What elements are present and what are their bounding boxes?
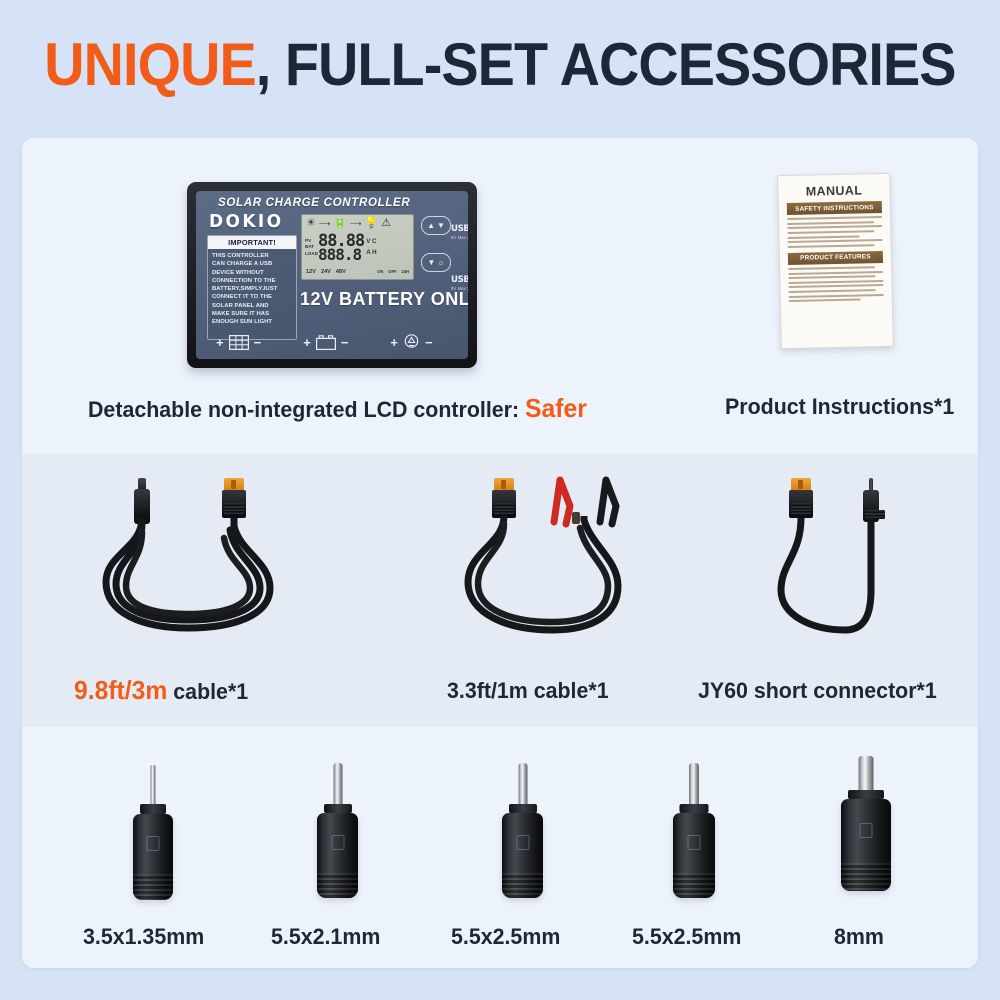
caption-cable-1m: 3.3ft/1m cable*1	[447, 678, 609, 704]
battery-notice: 12V BATTERY ONLY	[300, 289, 468, 310]
text-line	[787, 221, 874, 225]
lcd-voltage-12v: 12V	[306, 269, 316, 275]
manual-features-text	[788, 266, 884, 302]
page-header: UNIQUE, FULL-SET ACCESSORIES	[0, 26, 1000, 102]
manual-safety-text	[787, 216, 883, 248]
plus-sign: +	[303, 335, 311, 350]
lcd-unit-current: A H	[364, 246, 376, 257]
notice-line: CONNECTION TO THE	[212, 277, 293, 285]
text-line	[788, 239, 883, 243]
notice-line: CONNECT IT TO THE	[212, 293, 293, 301]
connector-body	[789, 490, 813, 518]
lcd-mode-off: OFF	[388, 270, 396, 275]
adapter-body	[841, 799, 891, 891]
caption-text: Detachable non-integrated LCD controller…	[88, 397, 525, 422]
dc-barrel-plug-icon	[863, 478, 879, 522]
caption-adapter-3: 5.5x2.5mm	[451, 924, 560, 950]
text-line	[788, 244, 875, 248]
text-line	[788, 275, 875, 279]
lcd-status-row: 12V 24V 48V ON OFF 24H	[306, 269, 409, 275]
lcd-mode-on: ON	[377, 270, 383, 275]
grip-ribs	[224, 503, 244, 515]
arrow-right-icon: ⟶	[319, 219, 330, 228]
minus-sign: −	[341, 335, 349, 350]
adapter-body	[133, 814, 173, 900]
text-line	[788, 280, 883, 284]
notice-line: BATTERY,SIMPLYJUST	[212, 285, 293, 293]
adapter-body	[502, 813, 543, 898]
usb-port-top[interactable]: USB 5V Max 2A	[451, 224, 468, 240]
chevron-down-icon: ▼	[427, 258, 435, 267]
usb-label: USB	[451, 275, 468, 285]
lcd-display: ☀ ⟶ 🔋 ⟶ 💡 ⚠ PV BAT LOAD 88.88 888.8	[301, 214, 414, 280]
warning-icon: ⚠	[381, 218, 391, 229]
xt60-connector-icon	[222, 478, 246, 518]
connector-body	[492, 490, 516, 518]
caption-text: cable*1	[167, 679, 248, 704]
short-cable	[767, 518, 957, 648]
product-instructions-sheet: MANUAL SAFETY INSTRUCTIONS PRODUCT FEATU…	[777, 173, 894, 349]
text-line	[788, 266, 875, 270]
caption-highlight: 9.8ft/3m	[74, 675, 167, 705]
lcd-voltage-48v: 48V	[336, 269, 346, 275]
adapter-5-5x2-1mm	[310, 763, 366, 898]
grip-ribs	[791, 503, 811, 515]
arrow-right-icon: ⟶	[350, 219, 361, 228]
lcd-icon-row: ☀ ⟶ 🔋 ⟶ 💡 ⚠	[306, 218, 391, 229]
grip-ribs	[494, 503, 514, 515]
plus-sign: +	[216, 335, 224, 350]
minus-sign: −	[254, 335, 262, 350]
notice-line: CAN CHARGE A USB	[212, 260, 293, 268]
controller-heading: SOLAR CHARGE CONTROLLER	[218, 197, 410, 209]
text-line	[787, 225, 882, 229]
bulb-icon: ☼	[437, 258, 444, 267]
text-line	[787, 230, 874, 234]
notice-line: SOLAR PANEL AND	[212, 302, 293, 310]
lcd-readout: PV BAT LOAD 88.88 888.8 V C A H	[305, 235, 377, 261]
xt60-connector-icon	[492, 478, 516, 518]
adapter-neck	[509, 804, 537, 813]
plus-sign: +	[390, 335, 398, 350]
lamp-icon	[403, 334, 420, 350]
usb-rating: 5V Max 2A	[451, 235, 468, 240]
text-line	[787, 235, 859, 239]
battery-icon: 🔋	[333, 218, 347, 229]
lcd-digit-stack: 88.88 888.8	[318, 235, 364, 261]
adapter-body	[673, 813, 715, 898]
caption-cable-3m: 9.8ft/3m cable*1	[74, 675, 248, 706]
adapter-neck	[140, 804, 166, 814]
jy60-connector-image	[767, 478, 957, 668]
adapter-neck	[324, 804, 352, 813]
important-notice-body: THIS CONTROLLER CAN CHARGE A USB DEVICE …	[208, 249, 296, 327]
chevron-up-icon: ▲	[427, 221, 435, 230]
accessories-panel: SOLAR CHARGE CONTROLLER DOKIO IMPORTANT!…	[22, 138, 978, 968]
cable-1m-image	[452, 478, 682, 668]
adapter-5-5x2-5mm-b	[666, 763, 722, 898]
solar-panel-icon	[229, 335, 249, 350]
lcd-mode-24h: 24H	[401, 270, 409, 275]
adapter-body	[317, 813, 358, 898]
lcd-digits-current: 888.8	[318, 248, 364, 261]
cable-3m-image	[102, 478, 352, 668]
text-line	[788, 271, 883, 275]
text-line	[789, 284, 884, 288]
caption-adapter-4: 5.5x2.5mm	[632, 924, 741, 950]
bulb-icon: 💡	[365, 218, 379, 229]
notice-line: THIS CONTROLLER	[212, 252, 293, 260]
manual-section-safety: SAFETY INSTRUCTIONS	[787, 201, 882, 215]
battery-icon	[316, 335, 336, 350]
page-title: UNIQUE, FULL-SET ACCESSORIES	[44, 30, 955, 99]
caption-jy60: JY60 short connector*1	[698, 678, 937, 704]
adapter-3-5x1-35mm	[125, 765, 181, 900]
xt60-connector-icon	[789, 478, 813, 518]
battery-terminal: + −	[303, 335, 348, 350]
brand-logo: DOKIO	[209, 212, 284, 233]
caption-lcd-controller: Detachable non-integrated LCD controller…	[88, 393, 587, 424]
important-notice-header: IMPORTANT!	[208, 236, 296, 249]
text-line	[789, 293, 884, 297]
page-title-rest: , FULL-SET ACCESSORIES	[256, 31, 956, 98]
caption-adapter-1: 3.5x1.35mm	[83, 924, 204, 950]
lcd-units: V C A H	[364, 235, 376, 258]
lcd-source-tags: PV BAT LOAD	[305, 235, 318, 257]
controller-faceplate: SOLAR CHARGE CONTROLLER DOKIO IMPORTANT!…	[196, 191, 468, 359]
lcd-voltage-24v: 24V	[321, 269, 331, 275]
text-line	[787, 216, 882, 220]
clip-sleeve	[572, 512, 580, 524]
adapter-8mm	[834, 756, 898, 891]
minus-sign: −	[425, 335, 433, 350]
cable-coil	[452, 516, 682, 666]
text-line	[789, 289, 876, 293]
caption-adapter-2: 5.5x2.1mm	[271, 924, 380, 950]
chevron-down-icon: ▼	[437, 221, 445, 230]
notice-line: DEVICE WITHOUT	[212, 269, 293, 277]
caption-adapter-5: 8mm	[834, 924, 884, 950]
adapter-pin	[334, 763, 343, 810]
important-notice-box: IMPORTANT! THIS CONTROLLER CAN CHARGE A …	[207, 235, 297, 340]
notice-line: MAKE SURE IT HAS	[212, 310, 293, 318]
cable-coil	[102, 518, 352, 668]
solar-panel-terminal: + −	[216, 335, 261, 350]
lcd-tag-load: LOAD	[305, 251, 318, 257]
usb-label: USB	[451, 224, 468, 234]
caption-highlight: Safer	[525, 393, 587, 423]
adapter-neck	[848, 790, 884, 799]
caption-product-instructions: Product Instructions*1	[725, 394, 954, 420]
manual-section-features: PRODUCT FEATURES	[788, 251, 883, 265]
page-title-highlight: UNIQUE	[44, 31, 255, 98]
adapter-5-5x2-5mm-a	[495, 763, 551, 898]
notice-line: ENOUGH SUN LIGHT	[212, 318, 293, 326]
manual-title: MANUAL	[786, 183, 881, 199]
mode-light-button[interactable]: ▼ ☼	[421, 253, 451, 272]
terminal-row: + − +	[210, 331, 458, 353]
adapter-neck	[680, 804, 709, 813]
load-lamp-terminal: + −	[390, 334, 432, 350]
lcd-unit-voltage: V C	[364, 235, 376, 246]
up-down-button[interactable]: ▲ ▼	[421, 216, 451, 235]
text-line	[789, 299, 861, 303]
solar-charge-controller[interactable]: SOLAR CHARGE CONTROLLER DOKIO IMPORTANT!…	[187, 182, 477, 368]
sun-icon: ☀	[306, 218, 316, 229]
connector-body	[222, 490, 246, 518]
